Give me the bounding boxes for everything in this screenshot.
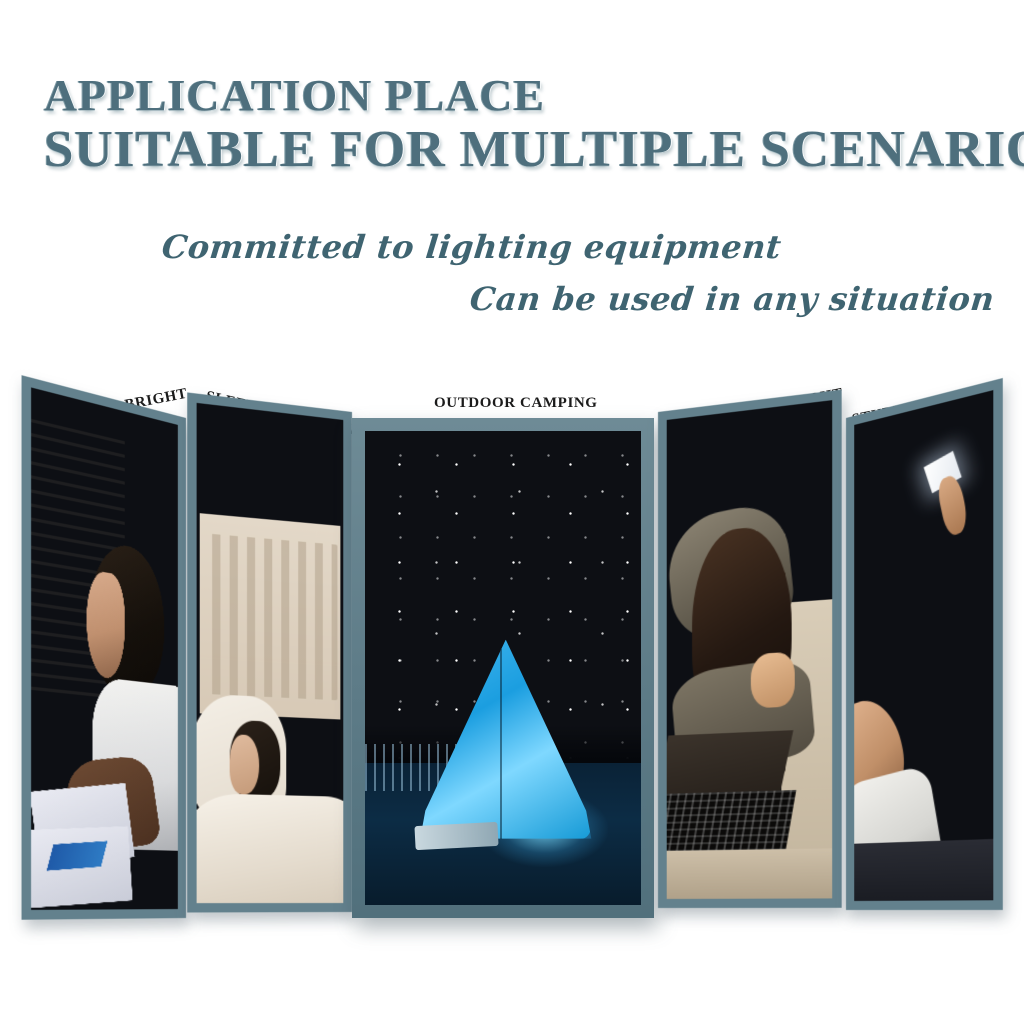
person-hand (751, 652, 795, 708)
photo-person-sleeping-in-bed (197, 403, 344, 903)
photo-person-lying-holding-light (854, 390, 993, 901)
ground-mat (414, 822, 498, 850)
laptop-keyboard (667, 790, 797, 856)
tent-seam (500, 649, 502, 839)
headline-line-2: SUITABLE FOR MULTIPLE SCENARIOS (44, 124, 1024, 176)
poster-canvas: APPLICATION PLACE SUITABLE FOR MULTIPLE … (0, 0, 1024, 1024)
blue-chart-mark (47, 841, 108, 871)
scenario-panel-light-is-bright (22, 375, 186, 920)
headline-block: APPLICATION PLACE SUITABLE FOR MULTIPLE … (44, 74, 1024, 176)
desk-surface (667, 848, 832, 899)
subtitle-line-1: Committed to lighting equipment (160, 228, 1024, 266)
headline-line-1: APPLICATION PLACE (44, 74, 1024, 118)
subtitle-block: Committed to lighting equipment Can be u… (0, 228, 1024, 318)
headboard-slats (203, 533, 338, 699)
panel-caption-outdoor-camping: OUTDOOR CAMPING (434, 395, 598, 412)
scenario-panel-blackout-at-night (658, 390, 842, 908)
quilt (197, 793, 344, 903)
scenario-panel-study-at-night (846, 378, 1003, 910)
sleeper-face (230, 734, 260, 794)
scenario-gallery: LIGHT IS BRIGHT SLEEP IN THE DARK OUTDOO… (0, 360, 1024, 960)
photo-glowing-tent-starry-sky (365, 431, 641, 905)
photo-person-slumped-over-laptop (667, 400, 832, 899)
bed-surface (854, 839, 993, 901)
person-hand (935, 472, 969, 538)
scenario-panel-sleep-in-the-dark (187, 392, 352, 912)
photo-woman-working-at-night-window (31, 387, 178, 909)
subtitle-line-2: Can be used in any situation (468, 280, 1024, 318)
scenario-panel-outdoor-camping (352, 418, 654, 918)
